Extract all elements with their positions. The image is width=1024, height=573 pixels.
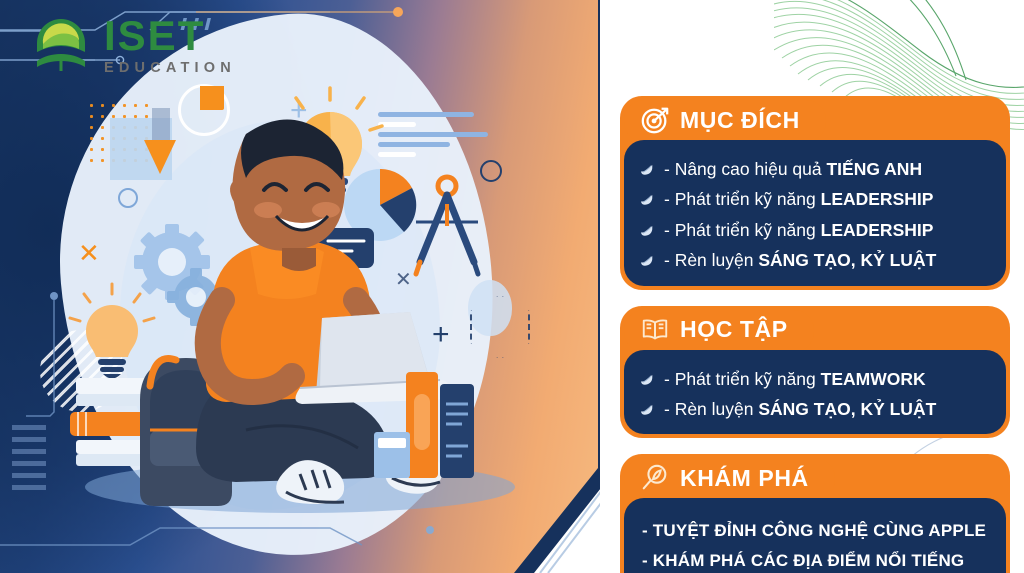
list-item-text: - Phát triển kỹ năng LEADERSHIP: [664, 188, 933, 210]
list-item: - TUYỆT ĐỈNH CÔNG NGHỆ CÙNG APPLE: [642, 520, 990, 542]
lightbulb-icon-small: [70, 284, 154, 379]
list-item: - Phát triển kỹ năng LEADERSHIP: [640, 188, 990, 210]
card-study[interactable]: HỌC TẬP - Phát triển kỹ năng TEAMWORK: [620, 306, 1010, 439]
card-study-title: HỌC TẬP: [680, 316, 788, 343]
student-illustration: [0, 0, 600, 573]
poster-root: ✕ ✕ + +: [0, 0, 1024, 573]
card-purpose-header: MỤC ĐÍCH: [624, 100, 826, 142]
list-item-text: - Rèn luyện SÁNG TẠO, KỶ LUẬT: [664, 398, 936, 420]
open-book-icon: [640, 315, 670, 345]
list-item: - Rèn luyện SÁNG TẠO, KỶ LUẬT: [640, 249, 990, 271]
leaf-bullet-icon: [640, 402, 655, 417]
logo-tagline: EDUCATION: [104, 61, 236, 76]
list-item: - KHÁM PHÁ CÁC ĐỊA ĐIỂM NỔI TIẾNG JOHOR …: [642, 550, 990, 573]
leaf-bullet-icon: [640, 372, 655, 387]
leaf-bullet-icon: [640, 192, 655, 207]
list-item-text: - Rèn luyện SÁNG TẠO, KỶ LUẬT: [664, 249, 936, 271]
list-item-text: - KHÁM PHÁ CÁC ĐỊA ĐIỂM NỔI TIẾNG JOHOR …: [642, 550, 990, 573]
card-study-body: - Phát triển kỹ năng TEAMWORK - Rèn luyệ…: [624, 350, 1006, 435]
card-purpose[interactable]: MỤC ĐÍCH - Nâng cao hiệu quả TIẾNG ANH: [620, 96, 1010, 290]
leaf-bullet-icon: [640, 162, 655, 177]
list-item: - Phát triển kỹ năng LEADERSHIP: [640, 219, 990, 241]
card-purpose-body: - Nâng cao hiệu quả TIẾNG ANH - Phát tri…: [624, 140, 1006, 286]
list-item: - Rèn luyện SÁNG TẠO, KỶ LUẬT: [640, 398, 990, 420]
target-icon: [640, 105, 670, 135]
brand-logo: ISET EDUCATION: [30, 14, 236, 76]
logo-mark-icon: [30, 14, 92, 76]
list-item-text: - Nâng cao hiệu quả TIẾNG ANH: [664, 158, 922, 180]
card-explore-body: - TUYỆT ĐỈNH CÔNG NGHỆ CÙNG APPLE - KHÁM…: [624, 498, 1006, 573]
card-purpose-title: MỤC ĐÍCH: [680, 107, 800, 134]
card-study-header: HỌC TẬP: [624, 310, 814, 352]
leaf-bullet-icon: [640, 253, 655, 268]
info-card-list: MỤC ĐÍCH - Nâng cao hiệu quả TIẾNG ANH: [620, 96, 1010, 573]
list-item: - Nâng cao hiệu quả TIẾNG ANH: [640, 158, 990, 180]
leaf-bullet-icon: [640, 223, 655, 238]
list-item-text: - TUYỆT ĐỈNH CÔNG NGHỆ CÙNG APPLE: [642, 520, 986, 542]
magnifier-leaf-icon: [640, 463, 670, 493]
list-item-text: - Phát triển kỹ năng LEADERSHIP: [664, 219, 933, 241]
logo-wordmark: ISET: [104, 15, 236, 57]
compass-icon: [416, 177, 478, 274]
card-explore-header: KHÁM PHÁ: [624, 458, 835, 500]
card-explore-title: KHÁM PHÁ: [680, 465, 809, 492]
card-explore[interactable]: KHÁM PHÁ - TUYỆT ĐỈNH CÔNG NGHỆ CÙNG APP…: [620, 454, 1010, 573]
illustration-panel: ✕ ✕ + +: [0, 0, 600, 573]
list-item: - Phát triển kỹ năng TEAMWORK: [640, 368, 990, 390]
list-item-text: - Phát triển kỹ năng TEAMWORK: [664, 368, 926, 390]
